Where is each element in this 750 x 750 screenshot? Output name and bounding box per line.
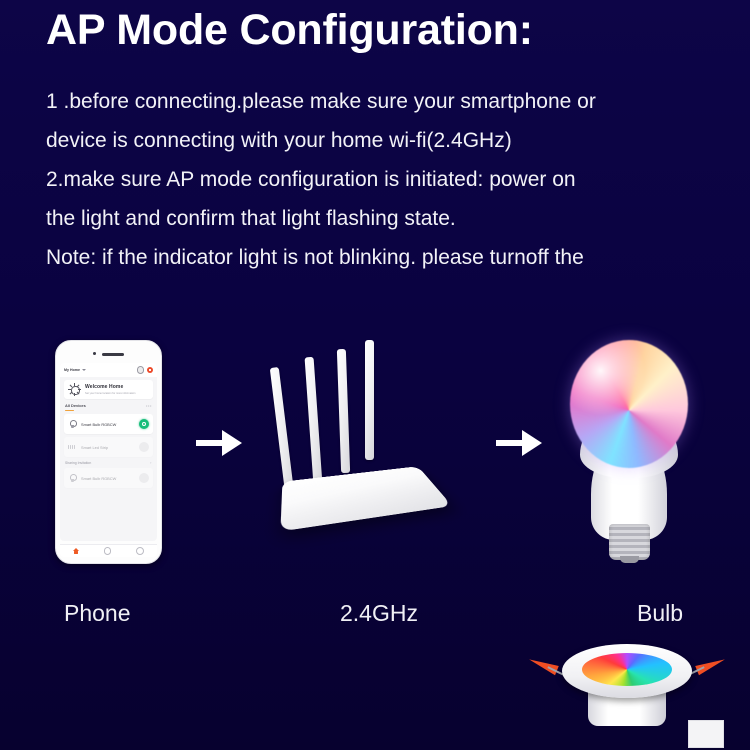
instruction-line-4: the light and confirm that light flashin… bbox=[46, 199, 718, 238]
phone-mockup: My Home bbox=[55, 340, 162, 564]
welcome-card[interactable]: Welcome Home Set your home location for … bbox=[64, 380, 153, 399]
home-name-label: My Home bbox=[64, 368, 80, 372]
caption-router: 2.4GHz bbox=[340, 600, 418, 627]
router-antenna bbox=[365, 340, 374, 460]
instruction-line-5: Note: if the indicator light is not blin… bbox=[46, 238, 718, 277]
list-item[interactable]: Smart Bulb RGBCW bbox=[64, 414, 153, 434]
welcome-subtitle: Set your home location for more informat… bbox=[85, 392, 135, 395]
device-name: Smart Bulb RGBCW bbox=[81, 422, 135, 427]
phone-screen: My Home bbox=[60, 363, 157, 541]
instructions-block: 1 .before connecting.please make sure yo… bbox=[46, 82, 718, 277]
wifi-router-icon bbox=[262, 335, 452, 550]
power-toggle[interactable] bbox=[139, 473, 149, 483]
earpiece-speaker bbox=[102, 353, 124, 356]
router-antenna bbox=[337, 349, 350, 473]
device-name: Smart Bulb RGBCW bbox=[81, 476, 135, 481]
more-dots-icon[interactable]: ••• bbox=[146, 403, 152, 408]
downlight-rgb-face bbox=[582, 653, 672, 686]
downlight-trim-ring bbox=[562, 644, 692, 698]
list-item[interactable]: Smart Bulb RGBCW bbox=[64, 468, 153, 488]
scan-icon[interactable] bbox=[137, 366, 145, 374]
home-icon[interactable] bbox=[73, 548, 79, 554]
arrow-right-icon bbox=[196, 430, 242, 456]
caption-row: Phone 2.4GHz Bulb bbox=[0, 600, 750, 638]
message-icon[interactable] bbox=[147, 367, 153, 373]
page-title: AP Mode Configuration: bbox=[46, 6, 533, 55]
caption-phone: Phone bbox=[64, 600, 131, 627]
spring-clip-left bbox=[527, 655, 559, 676]
router-antenna bbox=[305, 357, 323, 485]
phone-top-bar bbox=[56, 348, 161, 360]
chevron-right-icon[interactable]: › bbox=[150, 461, 152, 465]
product-label bbox=[688, 720, 724, 748]
list-item[interactable]: Smart Led Strip bbox=[64, 437, 153, 457]
bulb-screw-base bbox=[609, 524, 650, 560]
instruction-line-2: device is connecting with your home wi-f… bbox=[46, 121, 718, 160]
rgb-downlight-icon bbox=[510, 640, 742, 750]
welcome-title: Welcome Home bbox=[85, 384, 135, 390]
instruction-line-1: 1 .before connecting.please make sure yo… bbox=[46, 82, 718, 121]
all-devices-label: All Devices bbox=[65, 403, 86, 408]
page-stage: AP Mode Configuration: 1 .before connect… bbox=[0, 0, 750, 750]
device-flow-row: My Home bbox=[0, 335, 750, 575]
bulb-icon bbox=[68, 474, 77, 483]
sharing-invitation-header[interactable]: Sharing Invitation › bbox=[65, 461, 152, 465]
profile-icon[interactable] bbox=[136, 547, 144, 555]
caption-bulb: Bulb bbox=[637, 600, 683, 627]
power-toggle[interactable] bbox=[139, 419, 149, 429]
chevron-down-icon bbox=[82, 369, 86, 371]
smart-icon[interactable] bbox=[104, 547, 112, 555]
device-name: Smart Led Strip bbox=[81, 445, 135, 450]
all-devices-section-header: All Devices ••• bbox=[65, 403, 152, 408]
power-toggle[interactable] bbox=[139, 442, 149, 452]
instruction-line-3: 2.make sure AP mode configuration is ini… bbox=[46, 160, 718, 199]
front-camera-icon bbox=[93, 352, 96, 355]
bulb-glass-dome bbox=[570, 340, 688, 468]
bulb-icon bbox=[68, 420, 77, 429]
section-underline bbox=[65, 410, 74, 411]
weather-sun-icon bbox=[68, 383, 81, 396]
bottom-nav bbox=[60, 544, 157, 557]
rgb-bulb-icon bbox=[560, 340, 700, 565]
sharing-invitation-label: Sharing Invitation bbox=[65, 461, 91, 465]
router-body bbox=[280, 466, 452, 531]
led-strip-icon bbox=[68, 443, 77, 452]
app-header: My Home bbox=[60, 363, 157, 377]
app-header-actions bbox=[137, 366, 154, 374]
spring-clip-right bbox=[695, 655, 727, 676]
bulb-contact-tip bbox=[620, 556, 639, 563]
arrow-right-icon bbox=[496, 430, 542, 456]
home-selector[interactable]: My Home bbox=[64, 368, 86, 372]
